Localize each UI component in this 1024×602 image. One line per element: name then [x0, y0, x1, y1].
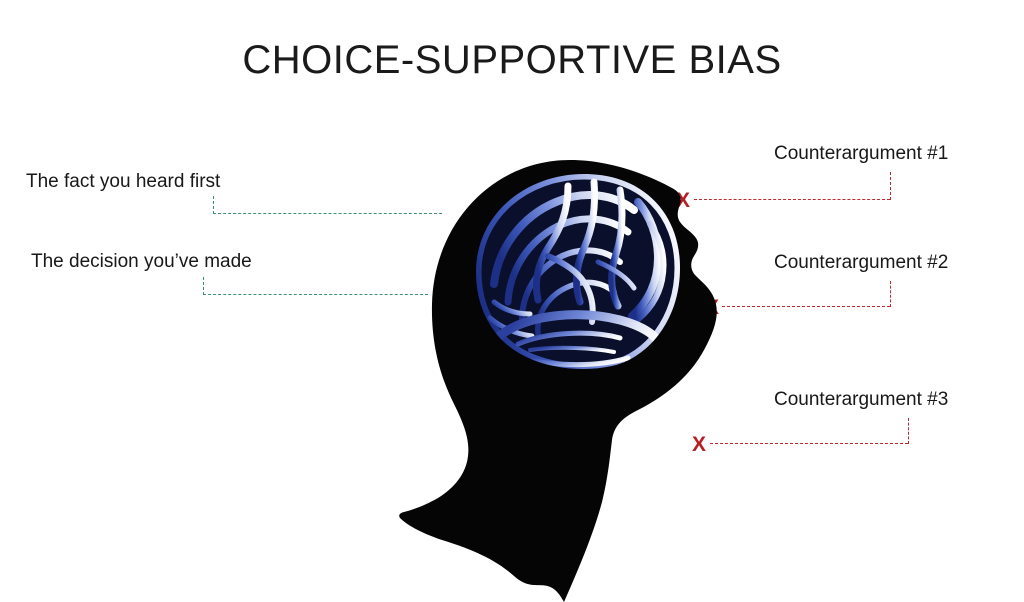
connector-counterargument-3-vertical — [908, 418, 909, 444]
connector-fact-vertical — [213, 196, 214, 214]
left-label-decision: The decision you’ve made — [31, 252, 252, 273]
head-silhouette-with-brain — [398, 152, 744, 602]
infographic-canvas: CHOICE-SUPPORTIVE BIAS The fact you hear… — [0, 0, 1024, 602]
left-label-fact: The fact you heard first — [26, 172, 220, 193]
page-title: CHOICE-SUPPORTIVE BIAS — [0, 38, 1024, 83]
connector-counterargument-2-horizontal — [722, 306, 890, 307]
right-label-counterargument-1: Counterargument #1 — [774, 144, 948, 165]
right-label-counterargument-2: Counterargument #2 — [774, 253, 948, 274]
right-label-counterargument-3: Counterargument #3 — [774, 390, 948, 411]
connector-counterargument-1-vertical — [890, 172, 891, 200]
connector-counterargument-2-vertical — [890, 281, 891, 307]
connector-decision-horizontal — [203, 294, 428, 295]
connector-decision-vertical — [203, 277, 204, 295]
